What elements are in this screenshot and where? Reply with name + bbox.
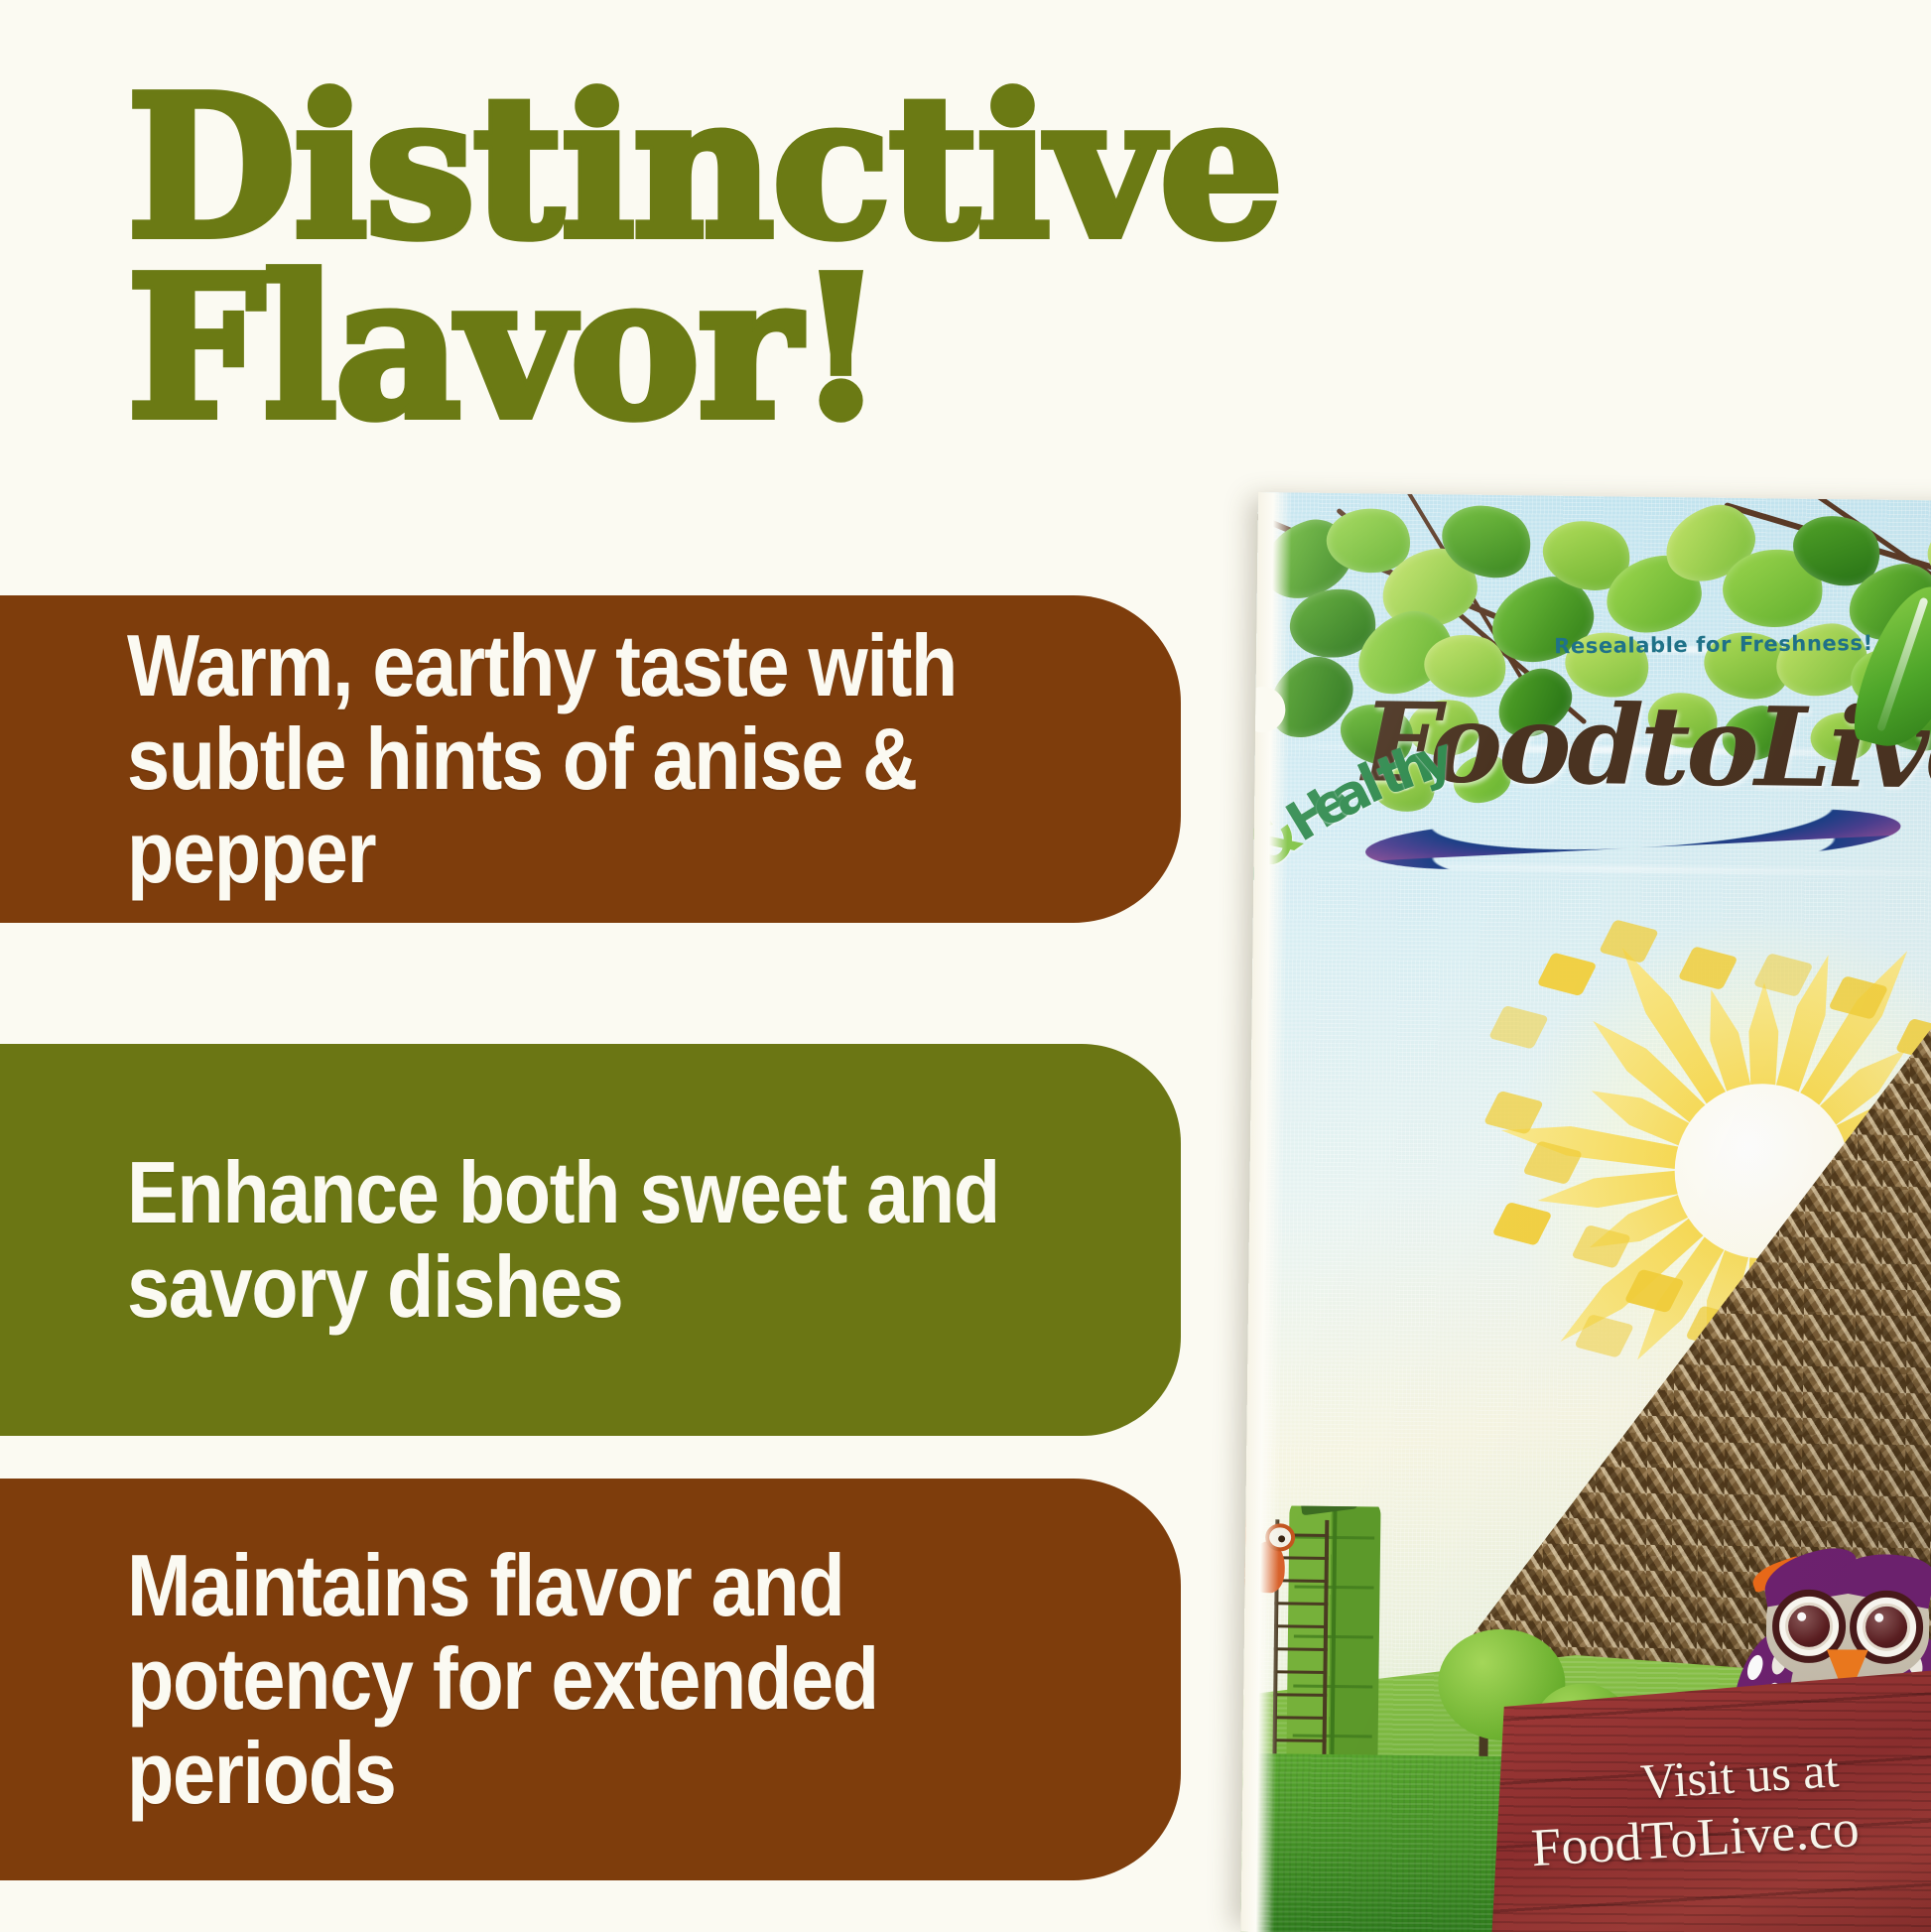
benefit-pill-3: Maintains flavor and potency for extende…	[0, 1479, 1181, 1880]
benefit-text-1: Warm, earthy taste with subtle hints of …	[127, 619, 1019, 899]
headline-line-2: Flavor!	[127, 258, 1338, 439]
page-title: Distinctive Flavor!	[127, 77, 1338, 440]
benefit-pill-2: Enhance both sweet and savory dishes	[0, 1044, 1181, 1436]
owl-wing-speckle	[1744, 1653, 1765, 1682]
ladder-rung	[1273, 1693, 1327, 1697]
owl-pupil	[1788, 1606, 1831, 1648]
brand-tagline: Delicious & Healthy	[1307, 731, 1924, 888]
product-package-image: Resealable for Freshness! FoodtoLive® De…	[1240, 492, 1931, 1932]
ladder-rung	[1273, 1739, 1327, 1742]
owl-pupil	[1866, 1607, 1908, 1649]
infographic-canvas: Distinctive Flavor! Warm, earthy taste w…	[0, 0, 1931, 1932]
benefit-text-2: Enhance both sweet and savory dishes	[127, 1146, 1019, 1333]
ladder-rung	[1274, 1647, 1328, 1651]
owl-head	[1765, 1557, 1930, 1682]
package-scenery: Visit us at FoodToLive.co	[1240, 1505, 1931, 1932]
benefit-text-3: Maintains flavor and potency for extende…	[127, 1539, 1019, 1819]
benefit-pill-1: Warm, earthy taste with subtle hints of …	[0, 595, 1181, 923]
ladder-rung	[1273, 1670, 1327, 1674]
resealable-label: Resealable for Freshness!	[1554, 631, 1873, 658]
ladder-rung	[1273, 1716, 1327, 1720]
wooden-sign: Visit us at FoodToLive.co	[1473, 1666, 1931, 1932]
ladder-rung	[1274, 1624, 1328, 1628]
